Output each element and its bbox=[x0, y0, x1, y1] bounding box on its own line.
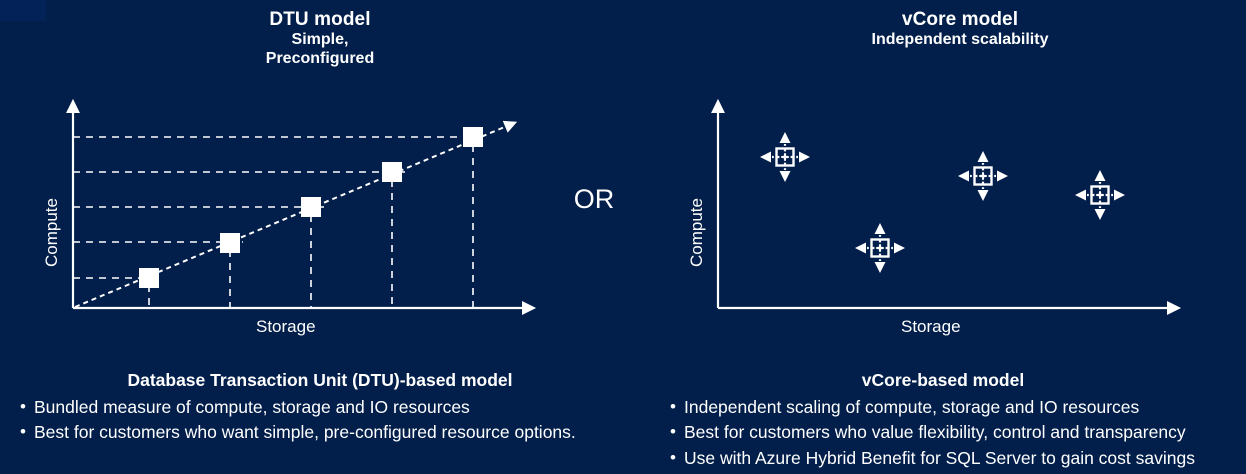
vcore-heading-subtitle-line1: Independent scalability bbox=[822, 31, 1098, 50]
vcore-bullet-list: • Independent scaling of compute, storag… bbox=[640, 395, 1246, 471]
dtu-bullet-list: • Bundled measure of compute, storage an… bbox=[0, 395, 640, 446]
vcore-bullet-text-2: Best for customers who value flexibility… bbox=[684, 420, 1246, 445]
dtu-heading-subtitle-line2: Preconfigured bbox=[182, 50, 458, 69]
slide-canvas: DTU model Simple, Preconfigured vCore mo… bbox=[0, 0, 1246, 474]
dtu-chart-svg bbox=[20, 95, 560, 350]
vcore-bullet-text-1: Independent scaling of compute, storage … bbox=[684, 395, 1246, 420]
bullet-icon: • bbox=[12, 420, 34, 445]
dtu-bullet-text-2: Best for customers who want simple, pre-… bbox=[34, 420, 640, 445]
list-item: • Bundled measure of compute, storage an… bbox=[0, 395, 640, 420]
vcore-chart-svg bbox=[665, 95, 1205, 350]
dtu-heading-title: DTU model bbox=[182, 9, 458, 31]
list-item: • Best for customers who want simple, pr… bbox=[0, 420, 640, 445]
vcore-chart: Compute Storage bbox=[665, 95, 1205, 350]
dtu-x-axis-label: Storage bbox=[256, 317, 316, 337]
list-item: • Independent scaling of compute, storag… bbox=[640, 395, 1246, 420]
vcore-data-markers bbox=[760, 132, 1125, 273]
list-item: • Best for customers who value flexibili… bbox=[640, 420, 1246, 445]
vcore-marker-1 bbox=[760, 132, 810, 182]
bullet-icon: • bbox=[662, 420, 684, 445]
vcore-marker-2 bbox=[855, 223, 905, 273]
bullet-icon: • bbox=[662, 395, 684, 420]
bullet-icon: • bbox=[12, 395, 34, 420]
corner-tint bbox=[0, 0, 46, 21]
dtu-notes-title: Database Transaction Unit (DTU)-based mo… bbox=[0, 370, 640, 392]
dtu-bullet-text-1: Bundled measure of compute, storage and … bbox=[34, 395, 640, 420]
dtu-vertical-guides bbox=[149, 145, 473, 308]
dtu-panel-heading: DTU model Simple, Preconfigured bbox=[182, 9, 458, 69]
dtu-marker-5 bbox=[463, 127, 483, 147]
dtu-notes-block: Database Transaction Unit (DTU)-based mo… bbox=[0, 370, 640, 446]
dtu-y-axis-label: Compute bbox=[42, 198, 62, 267]
dtu-marker-2 bbox=[220, 233, 240, 253]
vcore-y-axis-label: Compute bbox=[687, 198, 707, 267]
vcore-notes-title: vCore-based model bbox=[640, 370, 1246, 392]
vcore-panel-heading: vCore model Independent scalability bbox=[822, 9, 1098, 50]
dtu-marker-3 bbox=[301, 197, 321, 217]
vcore-heading-title: vCore model bbox=[822, 9, 1098, 31]
dtu-chart: Compute Storage bbox=[20, 95, 560, 350]
vcore-bullet-text-3: Use with Azure Hybrid Benefit for SQL Se… bbox=[684, 446, 1246, 471]
dtu-marker-1 bbox=[139, 268, 159, 288]
dtu-heading-subtitle-line1: Simple, bbox=[182, 31, 458, 50]
vcore-x-axis-label: Storage bbox=[901, 317, 961, 337]
vcore-notes-block: vCore-based model • Independent scaling … bbox=[640, 370, 1246, 471]
dtu-horizontal-guides bbox=[73, 137, 487, 278]
bullet-icon: • bbox=[662, 446, 684, 471]
vcore-marker-4 bbox=[1075, 170, 1125, 220]
vcore-marker-3 bbox=[958, 151, 1008, 201]
dtu-marker-4 bbox=[382, 162, 402, 182]
list-item: • Use with Azure Hybrid Benefit for SQL … bbox=[640, 446, 1246, 471]
